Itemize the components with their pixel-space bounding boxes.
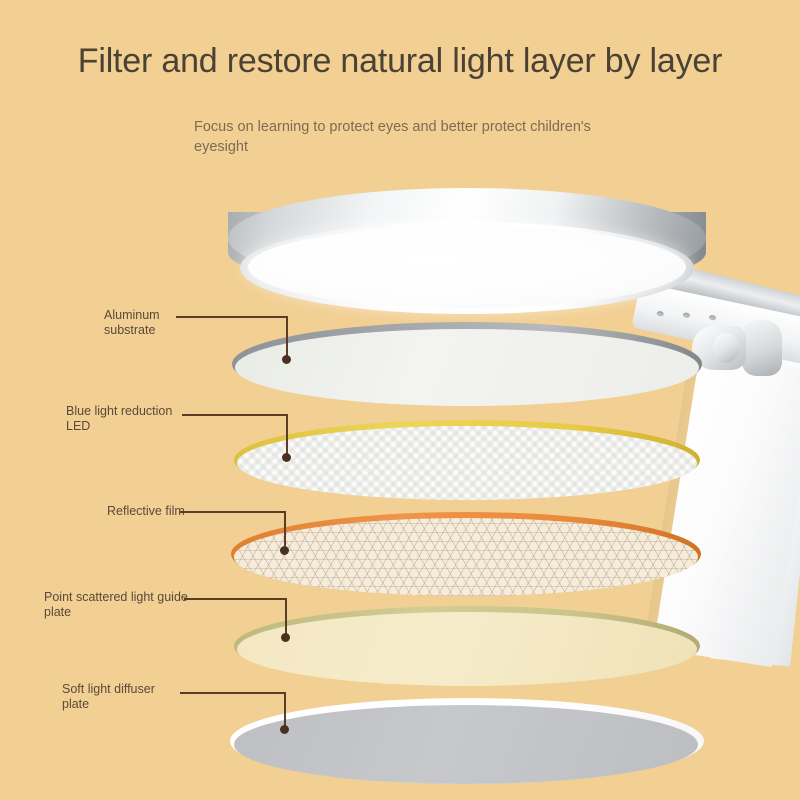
- lamp-hinge-outer: [742, 320, 782, 376]
- lamp-lens: [248, 226, 686, 308]
- layer-face: [234, 518, 698, 596]
- lamp-head: [228, 188, 706, 310]
- callout-leader-reflective-film: [180, 511, 286, 513]
- callout-label-reflective-film: Reflective film: [107, 504, 185, 519]
- callout-label-blue-light-reduction-led: Blue light reduction LED: [66, 404, 172, 435]
- callout-leader-soft-light-diffuser-plate: [180, 692, 286, 694]
- callout-leader-point-scattered-light-guide-plate: [184, 598, 287, 600]
- illustration-canvas: Filter and restore natural light layer b…: [0, 0, 800, 800]
- callout-dot-reflective-film: [280, 546, 289, 555]
- layer-aluminum-substrate: [232, 322, 702, 406]
- layer-face: [237, 612, 697, 686]
- layer-point-scattered-light-guide-plate: [234, 606, 700, 686]
- screw-icon: [709, 315, 717, 321]
- callout-dot-point-scattered-light-guide-plate: [281, 633, 290, 642]
- callout-leader-vertical-blue-light-reduction-led: [286, 414, 288, 458]
- layer-face: [237, 426, 697, 500]
- layer-blue-light-reduction-led: [234, 420, 700, 500]
- callout-label-point-scattered-light-guide-plate: Point scattered light guide plate: [44, 590, 188, 621]
- callout-label-soft-light-diffuser-plate: Soft light diffuser plate: [62, 682, 155, 713]
- layer-face: [235, 329, 699, 406]
- callout-leader-aluminum-substrate: [176, 316, 288, 318]
- callout-leader-vertical-reflective-film: [284, 511, 286, 551]
- lamp-hinge-knob: [713, 333, 739, 363]
- callout-leader-blue-light-reduction-led: [182, 414, 288, 416]
- screw-icon: [683, 312, 691, 318]
- layer-soft-light-diffuser-plate: [230, 698, 704, 784]
- layer-reflective-film: [231, 512, 701, 596]
- screw-icon: [656, 311, 664, 317]
- callout-dot-soft-light-diffuser-plate: [280, 725, 289, 734]
- page-title: Filter and restore natural light layer b…: [0, 42, 800, 81]
- callout-dot-aluminum-substrate: [282, 355, 291, 364]
- callout-dot-blue-light-reduction-led: [282, 453, 291, 462]
- page-subtitle: Focus on learning to protect eyes and be…: [194, 118, 614, 157]
- honeycomb-texture: [234, 518, 698, 596]
- checker-texture: [237, 426, 697, 500]
- callout-leader-vertical-point-scattered-light-guide-plate: [285, 598, 287, 638]
- callout-leader-vertical-aluminum-substrate: [286, 316, 288, 360]
- callout-label-aluminum-substrate: Aluminum substrate: [104, 308, 160, 339]
- lamp-arm-lower: [653, 352, 800, 667]
- layer-face: [234, 705, 698, 784]
